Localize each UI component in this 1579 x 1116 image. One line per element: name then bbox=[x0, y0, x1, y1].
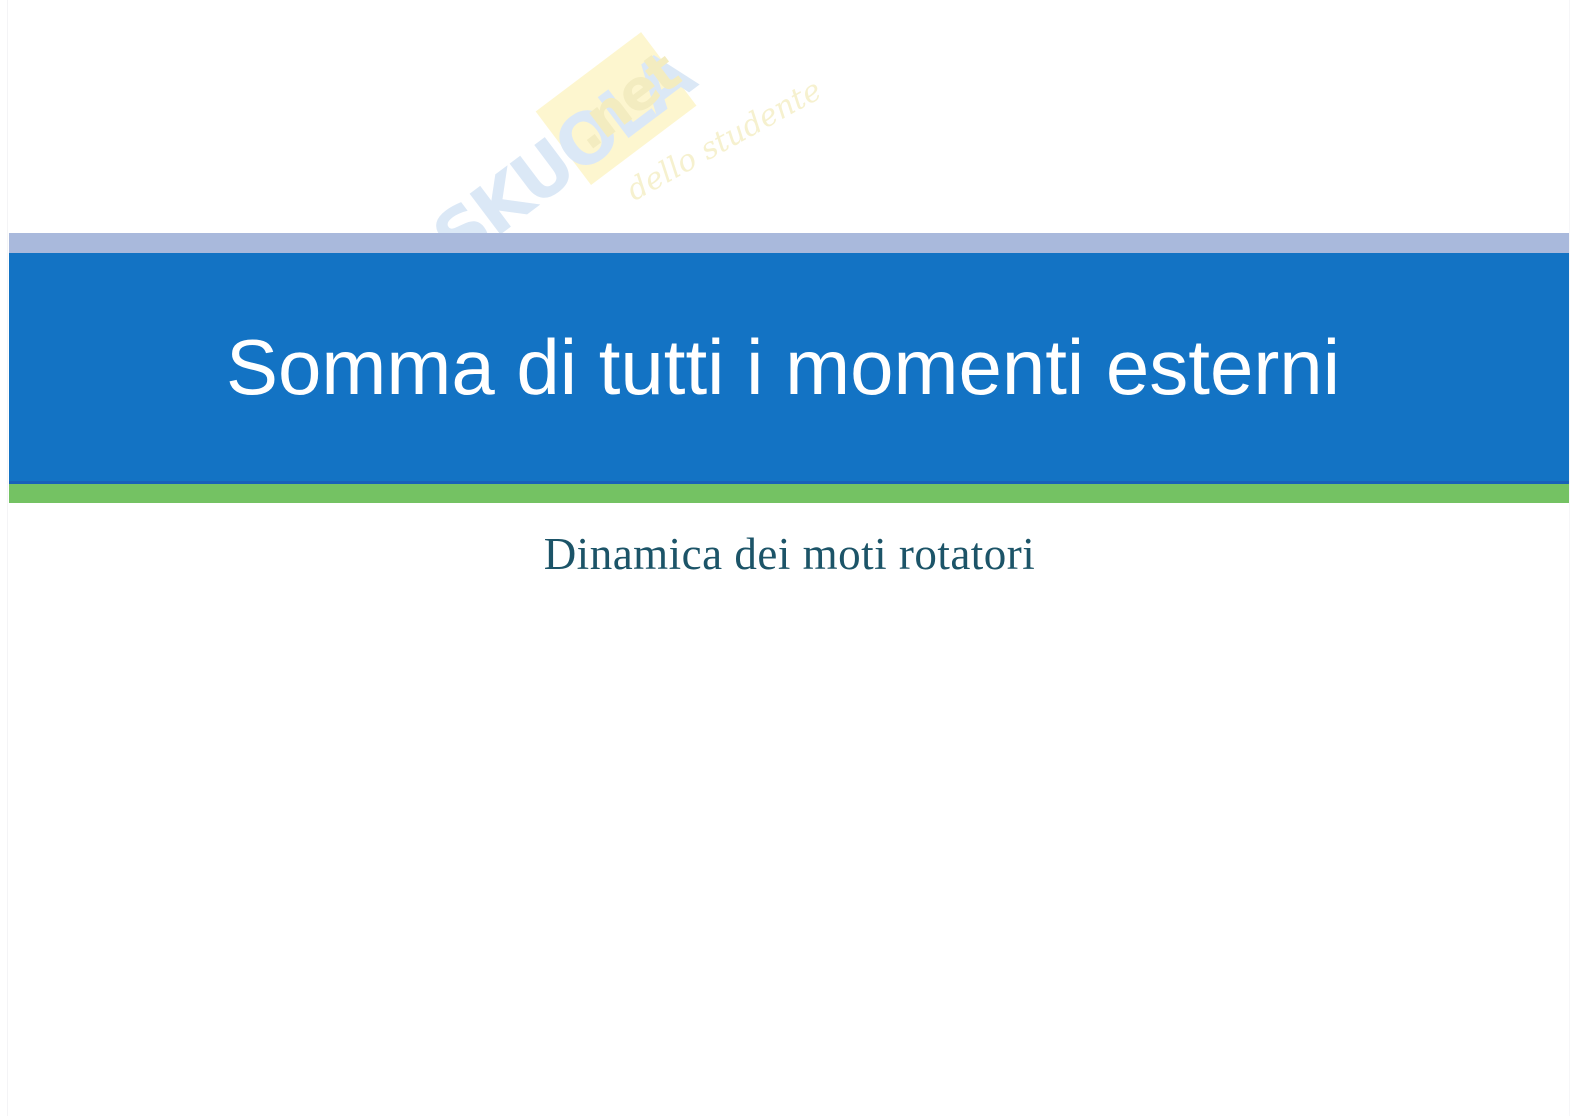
slide-canvas: SKUOLA .net dello studente Somma di tutt… bbox=[0, 0, 1579, 1116]
watermark-tagline-text: dello studente bbox=[621, 73, 827, 209]
slide-title: Somma di tutti i momenti esterni bbox=[9, 253, 1569, 481]
watermark-badge-shape bbox=[536, 32, 697, 185]
banner-bottom-accent-strip bbox=[9, 484, 1569, 503]
title-banner: Somma di tutti i momenti esterni bbox=[9, 233, 1569, 503]
banner-top-accent-strip bbox=[9, 233, 1569, 253]
watermark-domain-text: .net bbox=[561, 44, 689, 160]
slide-subtitle: Dinamica dei moti rotatori bbox=[0, 528, 1579, 580]
